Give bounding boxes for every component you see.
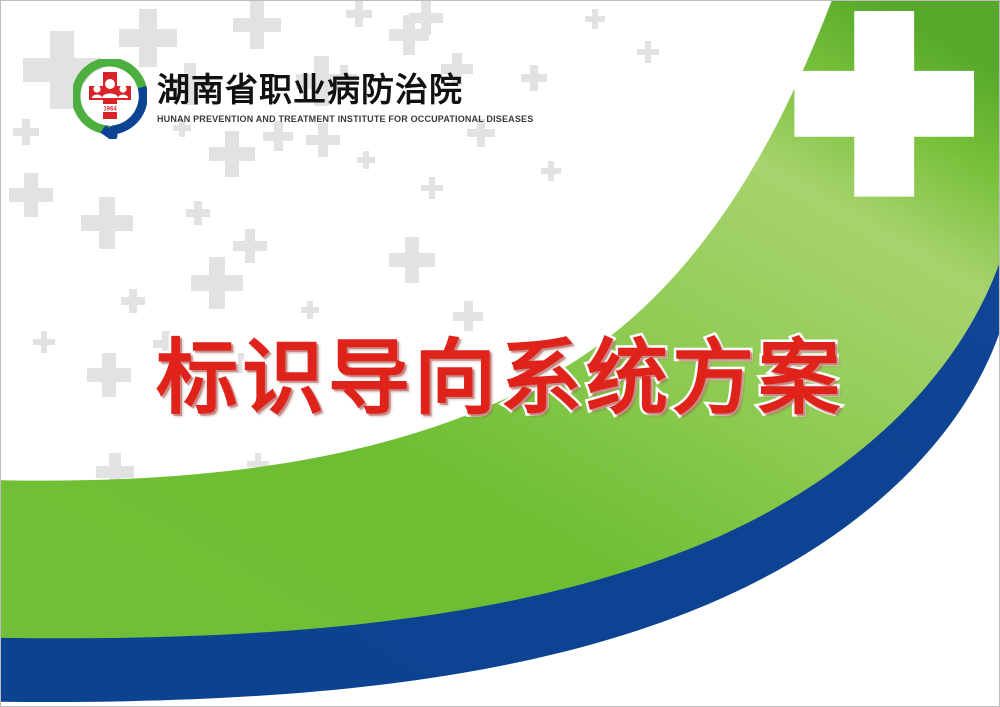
logo-text-block: 湖南省职业病防治院 HUNAN PREVENTION AND TREATMENT… xyxy=(157,74,537,125)
organization-name-en: HUNAN PREVENTION AND TREATMENT INSTITUTE… xyxy=(157,114,533,124)
emblem-year: 1964 xyxy=(103,107,117,113)
page-title: 标识导向系统方案 xyxy=(1,311,999,430)
hospital-emblem-icon: 1964 xyxy=(73,59,147,139)
cover-page: 1964 湖南省职业病防治院 HUNAN PREVENTION AND TREA… xyxy=(0,0,1000,707)
organization-logo: 1964 湖南省职业病防治院 HUNAN PREVENTION AND TREA… xyxy=(73,59,537,139)
organization-name-cn: 湖南省职业病防治院 xyxy=(157,74,537,110)
